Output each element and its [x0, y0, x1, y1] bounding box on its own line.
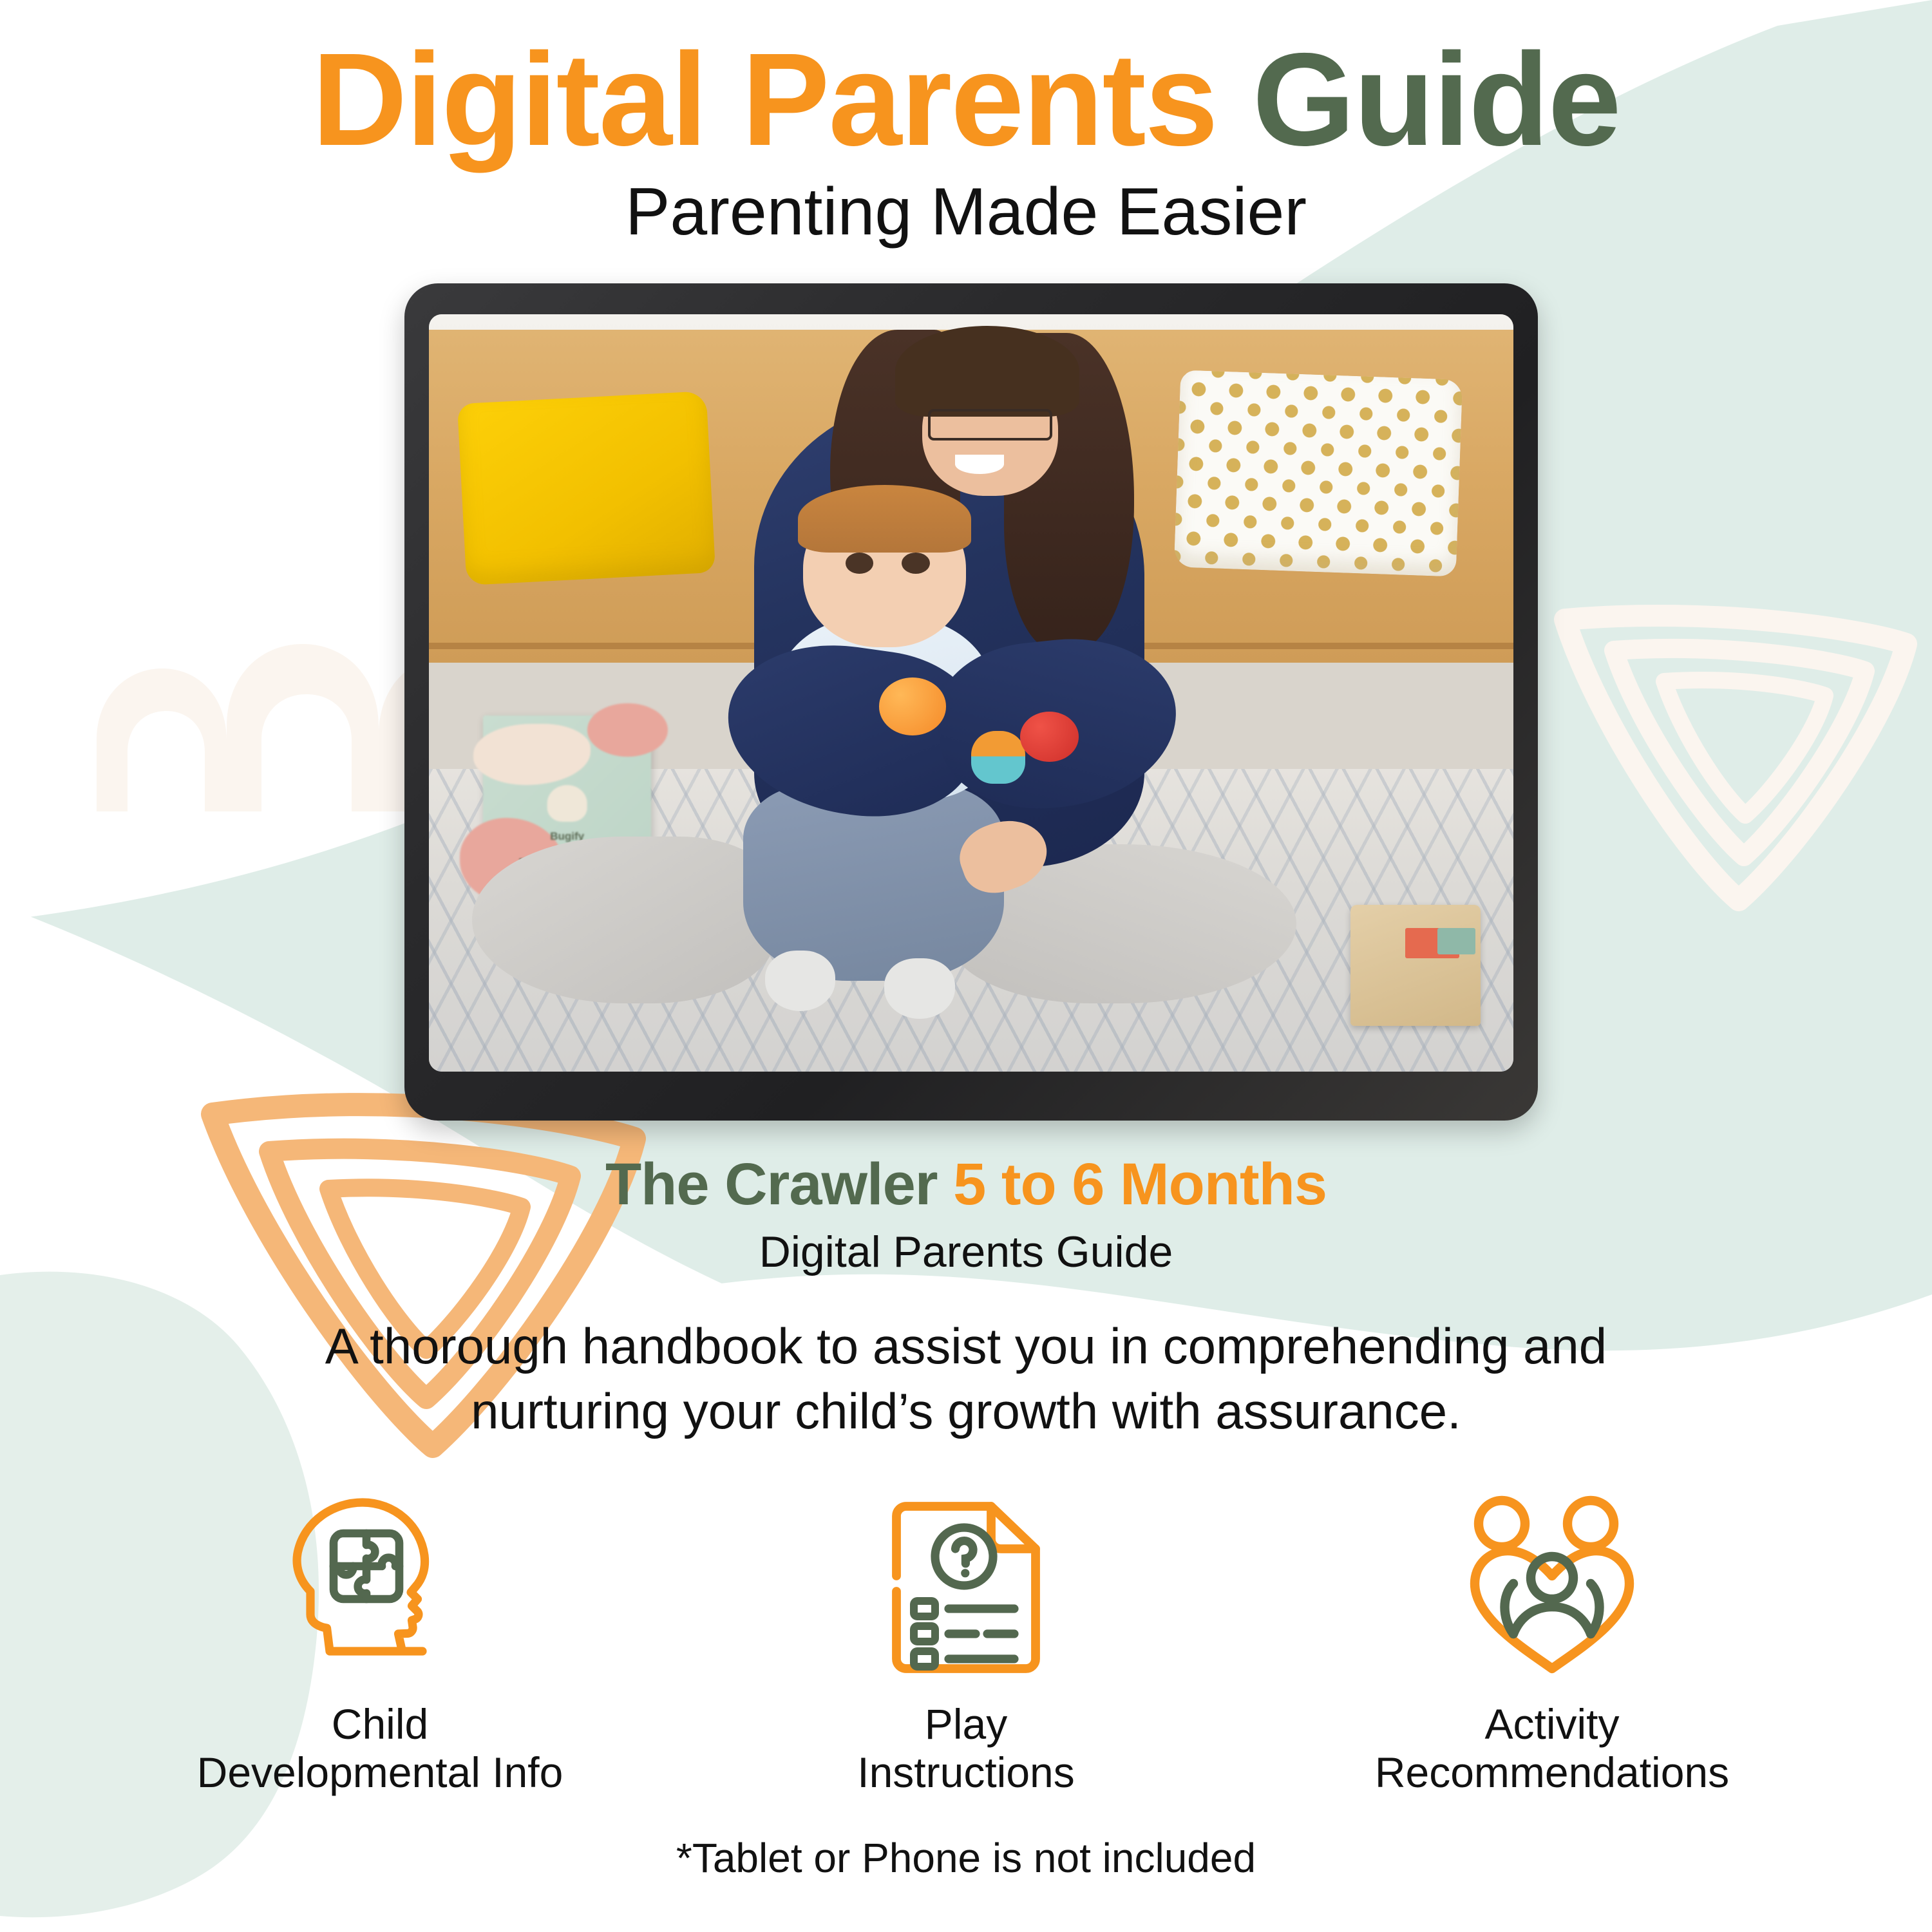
- tablet-screen: Bugify The Crawler 5 to 6 months: [429, 314, 1513, 1072]
- feature-activity-recommendations: Activity Recommendations: [1352, 1481, 1752, 1797]
- photo-baby-hair: [798, 485, 971, 553]
- feature-label-3-line2: Recommendations: [1375, 1748, 1729, 1797]
- feature-label-2-line2: Instructions: [857, 1748, 1074, 1797]
- page-title: Digital Parents Guide: [0, 0, 1932, 166]
- page-subtitle: Parenting Made Easier: [0, 177, 1932, 247]
- title-orange-part: Digital Parents: [312, 26, 1217, 173]
- photo-baby-sock-right: [884, 958, 954, 1019]
- title-green-part: Guide: [1253, 26, 1620, 173]
- disclaimer-footnote: *Tablet or Phone is not included: [0, 1834, 1932, 1882]
- feature-label-1-line2: Developmental Info: [197, 1748, 563, 1797]
- photo-mother-leg-left: [472, 837, 776, 1003]
- feature-list: Child Developmental Info Play Instructio…: [0, 1481, 1932, 1797]
- photo-polka-dot-pillow: [1174, 370, 1463, 577]
- photo-box-blob-pink-top: [587, 703, 668, 757]
- feature-label-3: Activity Recommendations: [1375, 1700, 1729, 1797]
- photo-mother-glasses: [928, 409, 1053, 440]
- product-description: A thorough handbook to assist you in com…: [0, 1314, 1932, 1444]
- lifestyle-photo: Bugify The Crawler 5 to 6 months: [429, 314, 1513, 1072]
- photo-mother-hair-top: [895, 326, 1079, 417]
- product-subtitle: Digital Parents Guide: [0, 1227, 1932, 1277]
- photo-toy-red-ball: [1020, 712, 1079, 762]
- photo-toy-chip-green: [1437, 928, 1475, 954]
- product-age-range: 5 to 6 Months: [953, 1151, 1327, 1217]
- family-heart-icon: [1455, 1481, 1649, 1694]
- feature-label-3-line1: Activity: [1375, 1700, 1729, 1748]
- photo-toy-teal-rattle: [971, 731, 1025, 784]
- photo-box-blob-cream: [473, 724, 591, 785]
- feature-play-instructions: Play Instructions: [766, 1481, 1166, 1797]
- description-line-2: nurturing your child’s growth with assur…: [0, 1379, 1932, 1444]
- feature-child-developmental-info: Child Developmental Info: [180, 1481, 580, 1797]
- head-puzzle-icon: [283, 1481, 477, 1694]
- product-title: The Crawler 5 to 6 Months: [0, 1153, 1932, 1217]
- photo-toy-wooden-roller: [1350, 905, 1481, 1026]
- product-name: The Crawler: [605, 1151, 938, 1217]
- feature-label-1-line1: Child: [197, 1700, 563, 1748]
- feature-label-2: Play Instructions: [857, 1700, 1074, 1797]
- photo-mother-smile: [955, 455, 1004, 475]
- document-question-checklist-icon: [869, 1481, 1063, 1694]
- description-line-1: A thorough handbook to assist you in com…: [0, 1314, 1932, 1379]
- feature-label-2-line1: Play: [857, 1700, 1074, 1748]
- product-title-block: The Crawler 5 to 6 Months Digital Parent…: [0, 1153, 1932, 1277]
- feature-label-1: Child Developmental Info: [197, 1700, 563, 1797]
- photo-baby-sock-left: [765, 951, 835, 1011]
- photo-toy-orange-ball: [879, 677, 946, 735]
- photo-box-baby-mark: [547, 785, 587, 822]
- header: Digital Parents Guide Parenting Made Eas…: [0, 0, 1932, 247]
- tablet-device-mockup: Bugify The Crawler 5 to 6 months: [404, 283, 1538, 1121]
- photo-yellow-pillow: [457, 391, 715, 585]
